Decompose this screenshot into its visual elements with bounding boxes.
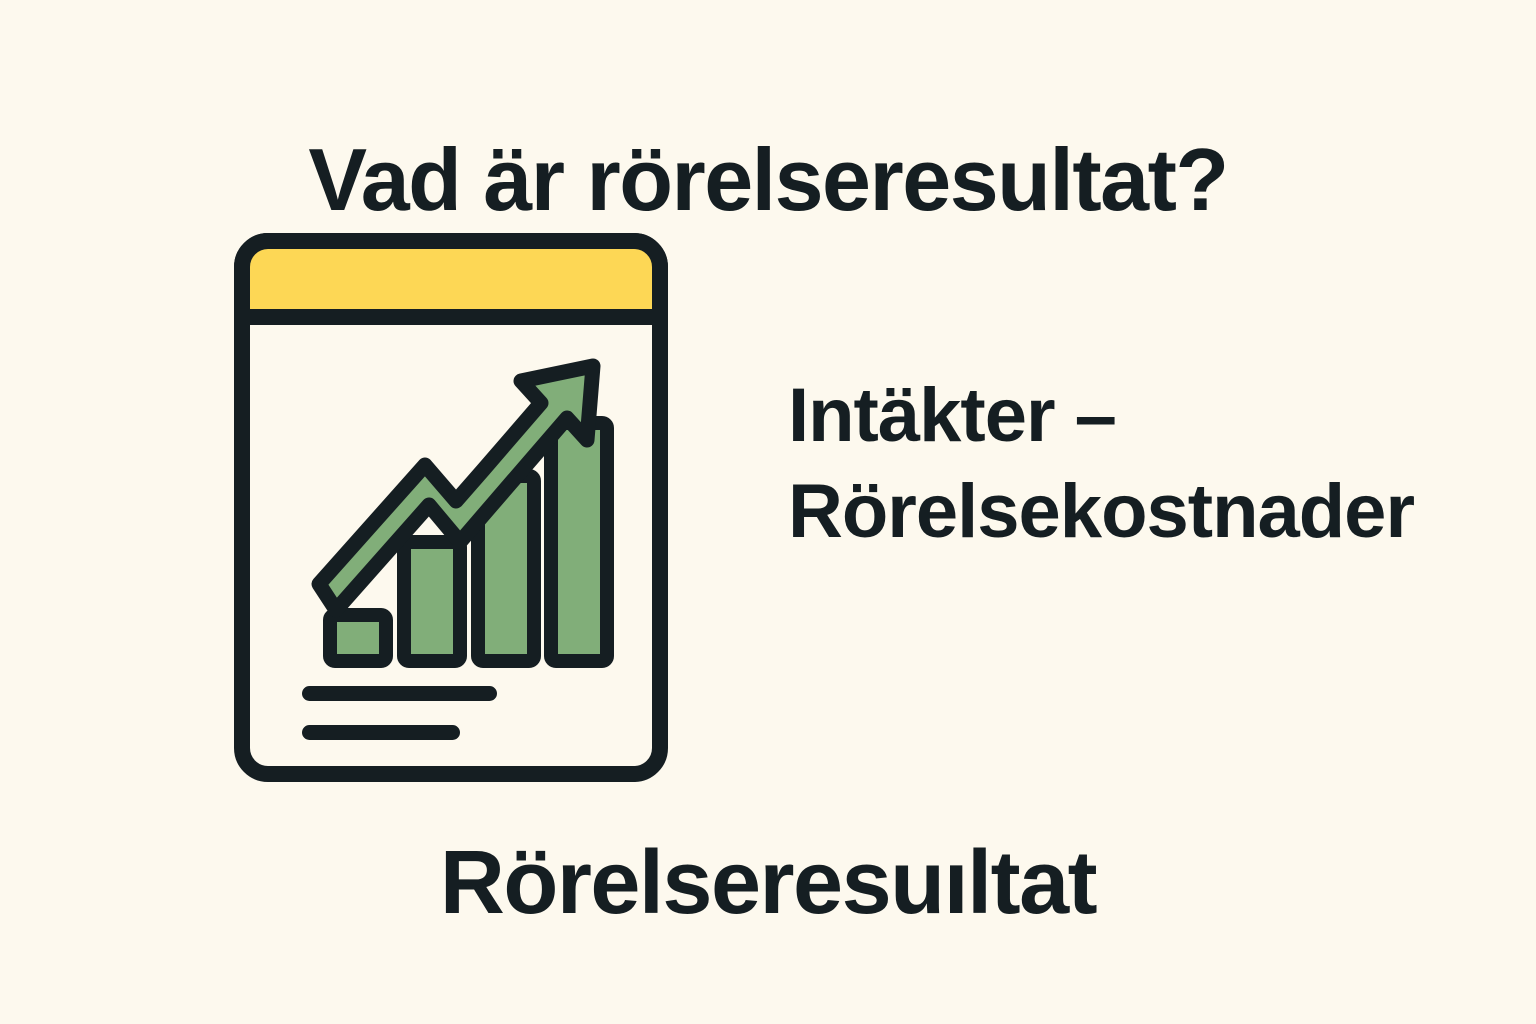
- formula-line-1: Intäkter –: [788, 368, 1488, 464]
- result-label: Rörelseresuıltat: [0, 836, 1536, 931]
- page-title: Vad är rörelseresultat?: [0, 135, 1536, 225]
- formula-text: Intäkter – Rörelsekostnader: [788, 368, 1488, 560]
- card-header-bar: [242, 241, 660, 317]
- card-text-line-2: [302, 725, 460, 740]
- illustration-growth-report-card: Rapport med stigande stapeldiagram och u…: [234, 233, 668, 782]
- slide-root: Vad är rörelseresultat? Rapport med stig…: [0, 0, 1536, 1024]
- chart-bar-1: [330, 615, 386, 661]
- chart-bar-2: [404, 542, 460, 661]
- card-text-line-1: [302, 686, 497, 701]
- chart-bar-4: [551, 423, 607, 661]
- report-card-svg: Rapport med stigande stapeldiagram och u…: [234, 233, 668, 782]
- formula-line-2: Rörelsekostnader: [788, 464, 1488, 560]
